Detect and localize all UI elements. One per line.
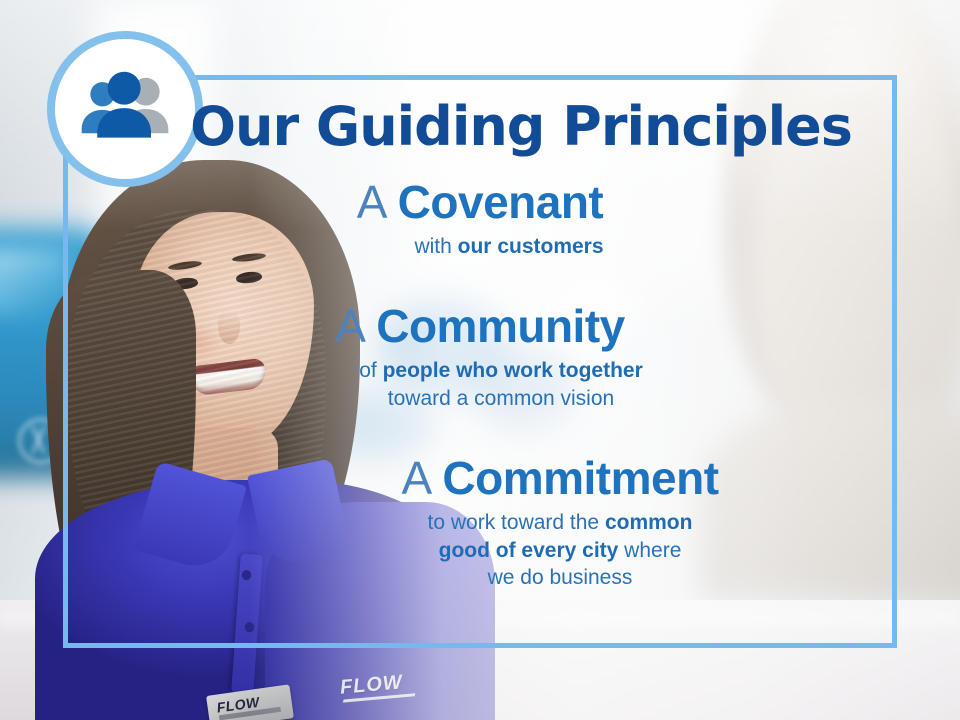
principle-heading: A Covenant — [63, 179, 897, 225]
principle-community: A Community of people who work together … — [63, 303, 927, 412]
subtext-line: with our customers — [414, 235, 603, 258]
principle-heading: A Community — [63, 303, 897, 349]
principle-word: Commitment — [442, 452, 718, 504]
subtext-line: good of every city where — [143, 537, 960, 565]
principle-subtext: to work toward the common good of every … — [143, 509, 960, 592]
principle-article: A — [401, 452, 442, 504]
subtext-line: to work toward the common — [143, 509, 960, 537]
poster-content: Our Guiding Principles A Covenant with o… — [63, 75, 897, 648]
principle-article: A — [335, 300, 376, 352]
page-title: Our Guiding Principles — [63, 99, 879, 156]
principle-subtext: of people who work together toward a com… — [63, 357, 897, 412]
poster-canvas: FLOW FLOW — [0, 0, 960, 720]
subtext-line: of people who work together — [105, 357, 897, 385]
subtext-line: we do business — [143, 564, 960, 592]
principle-heading: A Commitment — [143, 455, 960, 501]
subtext-line: toward a common vision — [105, 385, 897, 413]
principle-commitment: A Commitment to work toward the common g… — [63, 455, 960, 592]
principle-word: Community — [376, 300, 625, 352]
principle-subtext: with our customers — [63, 233, 897, 261]
principle-word: Covenant — [398, 176, 604, 228]
principle-article: A — [357, 176, 398, 228]
principle-covenant: A Covenant with our customers — [63, 179, 960, 261]
